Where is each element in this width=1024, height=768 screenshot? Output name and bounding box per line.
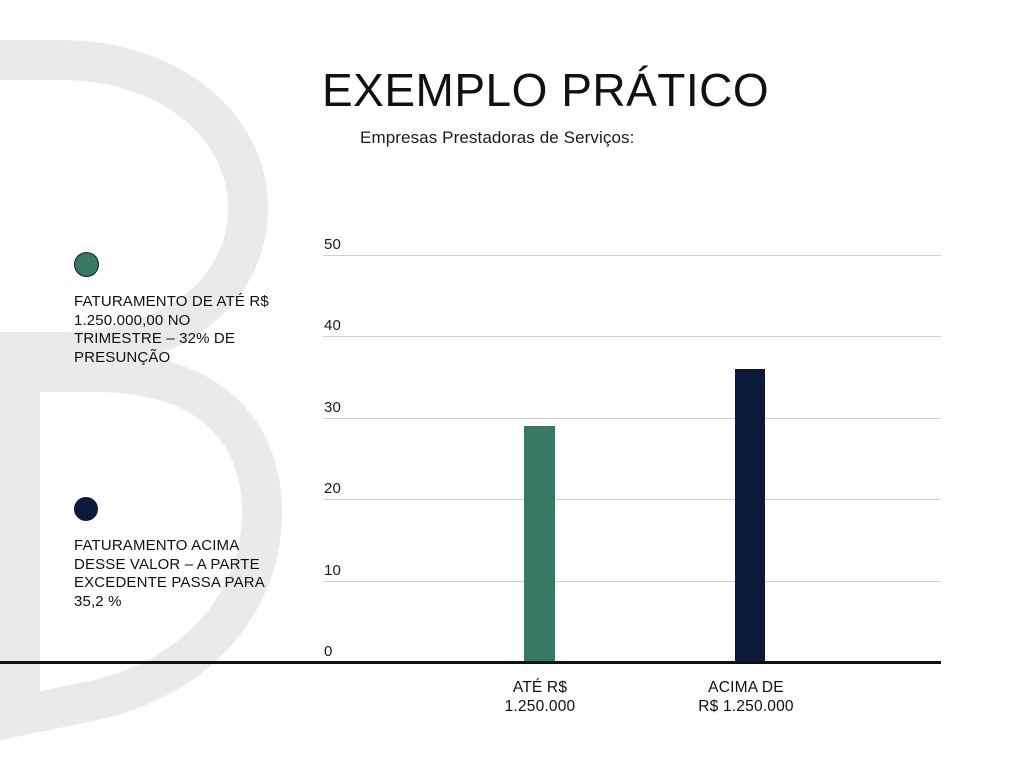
y-axis-tick-10: 10 — [324, 563, 341, 578]
bar-acima-1250000[interactable] — [735, 369, 765, 662]
y-axis-tick-50: 50 — [324, 237, 341, 252]
x-axis-label-acima-1250000: ACIMA DE R$ 1.250.000 — [636, 678, 856, 716]
y-axis-tick-0: 0 — [324, 644, 333, 659]
bar-ate-1250000[interactable] — [524, 426, 555, 662]
chart-x-axis-line — [0, 661, 941, 664]
gridline-30 — [323, 418, 941, 419]
bar-chart: 50403020100 ATÉ R$ 1.250.000 ACIMA DE R$… — [0, 0, 1024, 768]
gridline-50 — [323, 255, 941, 256]
gridline-20 — [323, 499, 941, 500]
y-axis-tick-40: 40 — [324, 318, 341, 333]
x-axis-label-ate-line1: ATÉ R$ — [430, 678, 650, 697]
x-axis-label-acima-line2: R$ 1.250.000 — [636, 697, 856, 716]
gridline-10 — [323, 581, 941, 582]
x-axis-label-acima-line1: ACIMA DE — [636, 678, 856, 697]
y-axis-tick-30: 30 — [324, 400, 341, 415]
gridline-40 — [323, 336, 941, 337]
x-axis-label-ate-line2: 1.250.000 — [430, 697, 650, 716]
y-axis-tick-20: 20 — [324, 481, 341, 496]
x-axis-label-ate-1250000: ATÉ R$ 1.250.000 — [430, 678, 650, 716]
